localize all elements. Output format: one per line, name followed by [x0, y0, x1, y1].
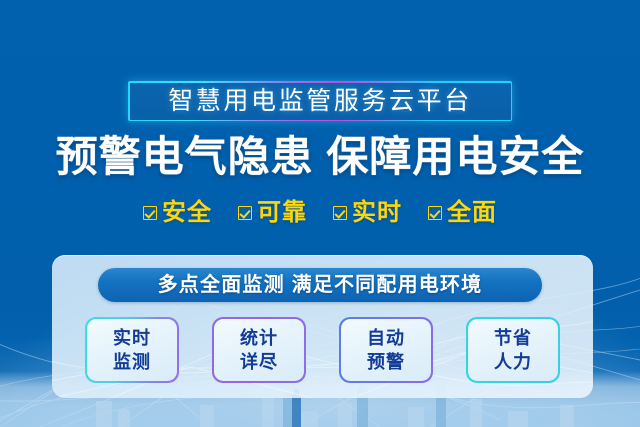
platform-title-chip: 智慧用电监管服务云平台 [128, 81, 512, 121]
feature-card-line1: 自动 [367, 327, 405, 350]
feature-card-detailed-statistics[interactable]: 统计 详尽 [212, 317, 306, 383]
feature-card-line2: 监测 [113, 351, 151, 374]
feature-card-auto-alarm[interactable]: 自动 预警 [339, 317, 433, 383]
feature-card-line2: 预警 [367, 351, 405, 374]
feature-card-line1: 节省 [494, 327, 532, 350]
feature-card-inner: 自动 预警 [341, 319, 432, 382]
feature-card-realtime-monitoring[interactable]: 实时 监测 [85, 317, 179, 383]
feature-checklist: 安全 可靠 实时 全面 [0, 201, 640, 225]
checklist-item-label: 实时 [352, 201, 402, 225]
feature-card-inner: 节省 人力 [468, 319, 559, 382]
checklist-item-label: 全面 [447, 201, 497, 225]
checklist-item-label: 安全 [162, 201, 212, 225]
platform-title-text: 智慧用电监管服务云平台 [168, 89, 472, 114]
feature-card-inner: 实时 监测 [87, 319, 178, 382]
checklist-item: 可靠 [238, 201, 307, 225]
check-square-icon [428, 206, 442, 220]
checklist-item-label: 可靠 [257, 201, 307, 225]
platform-title-chip-inner: 智慧用电监管服务云平台 [130, 83, 511, 120]
checklist-item: 安全 [143, 201, 212, 225]
checklist-item: 实时 [333, 201, 402, 225]
feature-card-line1: 实时 [113, 327, 151, 350]
feature-card-line2: 人力 [494, 351, 532, 374]
subtitle-pill: 多点全面监测 满足不同配用电环境 [98, 268, 542, 302]
headline-text: 预警电气隐患 保障用电安全 [0, 135, 640, 179]
subtitle-pill-text: 多点全面监测 满足不同配用电环境 [158, 275, 483, 295]
check-square-icon [238, 206, 252, 220]
feature-card-save-manpower[interactable]: 节省 人力 [466, 317, 560, 383]
checklist-item: 全面 [428, 201, 497, 225]
feature-card-row: 实时 监测 统计 详尽 自动 预警 节省 人力 [52, 315, 593, 385]
feature-card-inner: 统计 详尽 [214, 319, 305, 382]
check-square-icon [333, 206, 347, 220]
check-square-icon [143, 206, 157, 220]
feature-card-line2: 详尽 [240, 351, 278, 374]
feature-card-line1: 统计 [240, 327, 278, 350]
poster-root: 智慧用电监管服务云平台 预警电气隐患 保障用电安全 安全 可靠 实时 全面 [0, 0, 640, 427]
